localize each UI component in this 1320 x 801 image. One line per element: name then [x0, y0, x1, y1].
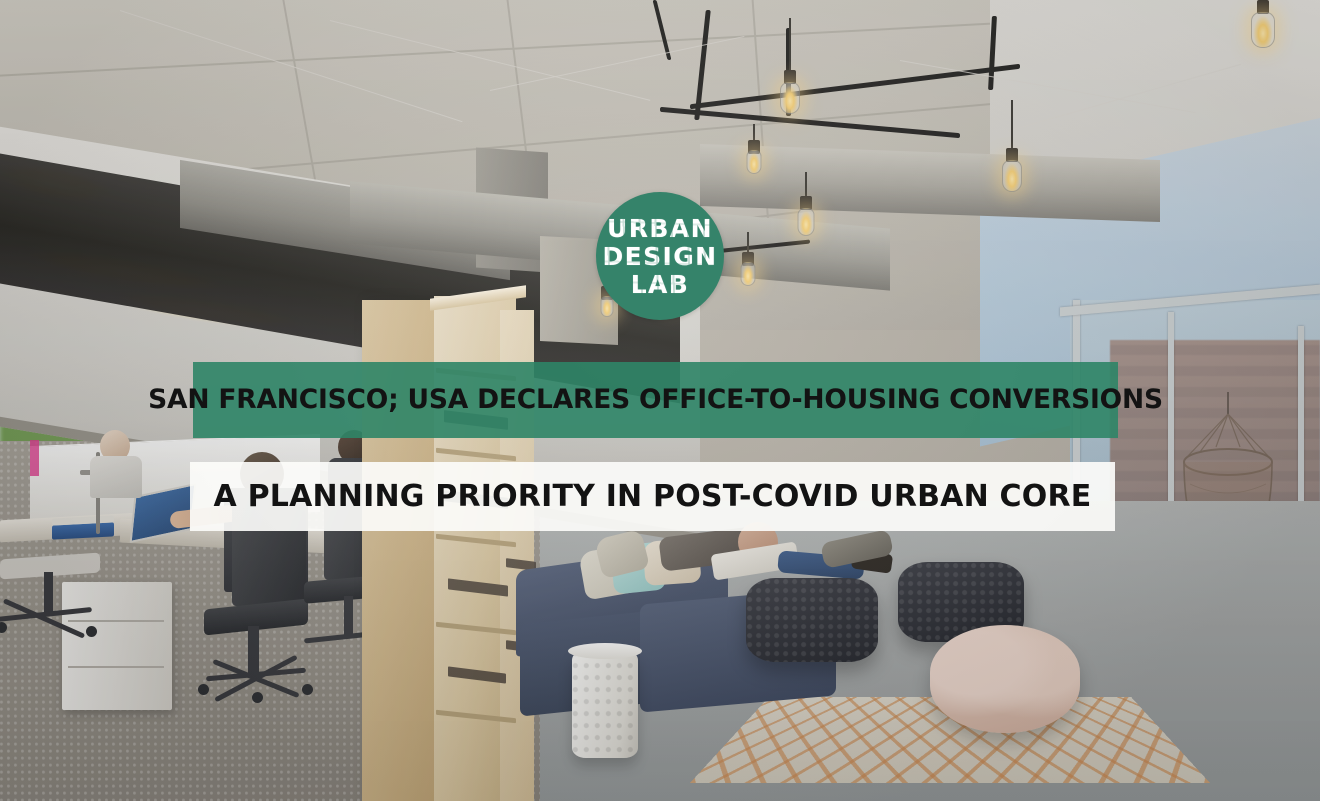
pendant-light	[778, 18, 802, 128]
headline-band-primary: SAN FRANCISCO; USA DECLARES OFFICE-TO-HO…	[193, 362, 1118, 438]
pendant-light	[795, 172, 817, 262]
headline-line-1: SAN FRANCISCO; USA DECLARES OFFICE-TO-HO…	[148, 387, 1163, 414]
person-seated-background	[88, 430, 146, 492]
pendant-light	[1000, 100, 1024, 210]
ceramic-stool	[572, 650, 638, 758]
pendant-light	[744, 124, 764, 194]
pendant-light	[738, 232, 758, 312]
logo-line-design: DESIGN	[603, 244, 718, 269]
pendant-light	[1250, 0, 1276, 64]
logo-line-urban: URBAN	[607, 216, 713, 241]
logo-line-lab: LAB	[631, 272, 690, 297]
office-chair	[0, 556, 118, 706]
tufted-pouf	[930, 625, 1080, 733]
hero-banner: URBAN DESIGN LAB SAN FRANCISCO; USA DECL…	[0, 0, 1320, 801]
knitted-pouf	[746, 578, 878, 662]
headline-band-secondary: A PLANNING PRIORITY IN POST-COVID URBAN …	[190, 462, 1115, 531]
magenta-accent	[30, 440, 39, 476]
urban-design-lab-logo[interactable]: URBAN DESIGN LAB	[596, 192, 724, 320]
headline-line-2: A PLANNING PRIORITY IN POST-COVID URBAN …	[214, 482, 1092, 512]
